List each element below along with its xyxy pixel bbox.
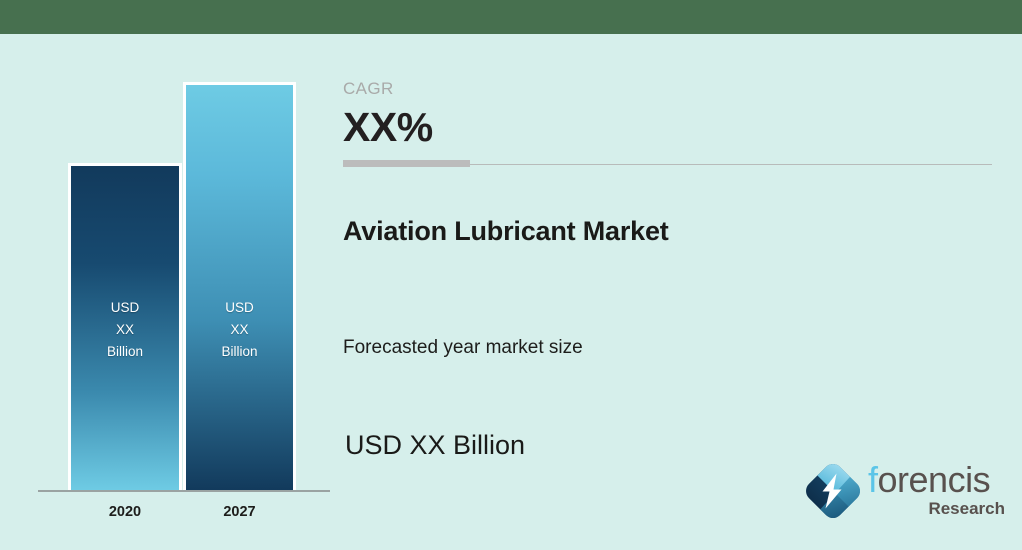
bar-2020-currency: USD (71, 297, 179, 319)
x-tick-2020: 2020 (68, 504, 182, 520)
bar-2020: USD XX Billion (68, 163, 182, 490)
bar-2027-amount: XX (186, 319, 293, 341)
forecast-value: USD XX Billion (345, 430, 525, 461)
infographic-root: USD XX Billion USD XX Billion 2020 2027 … (0, 0, 1022, 550)
forencis-wordmark: forencis (868, 461, 990, 499)
cagr-label: CAGR (343, 79, 394, 99)
bar-2020-unit: Billion (71, 341, 179, 363)
forencis-wordmark-initial: f (868, 459, 878, 500)
bar-2027-currency: USD (186, 297, 293, 319)
forencis-logo: forencis Research (800, 455, 1005, 530)
bar-2020-amount: XX (71, 319, 179, 341)
forecast-caption: Forecasted year market size (343, 337, 583, 359)
x-axis-line (38, 490, 330, 492)
top-banner (0, 0, 1022, 34)
x-tick-2027: 2027 (183, 504, 296, 520)
bar-chart: USD XX Billion USD XX Billion 2020 2027 (0, 34, 335, 550)
cagr-value: XX% (343, 103, 433, 151)
market-title: Aviation Lubricant Market (343, 216, 669, 247)
forencis-diamond-icon (800, 458, 866, 524)
bar-2027-label: USD XX Billion (186, 297, 293, 363)
bar-2027-unit: Billion (186, 341, 293, 363)
divider-accent (343, 160, 470, 167)
bar-2020-label: USD XX Billion (71, 297, 179, 363)
bar-2027: USD XX Billion (183, 82, 296, 490)
forencis-subtitle: Research (868, 499, 1005, 519)
forencis-wordmark-rest: orencis (878, 459, 991, 500)
